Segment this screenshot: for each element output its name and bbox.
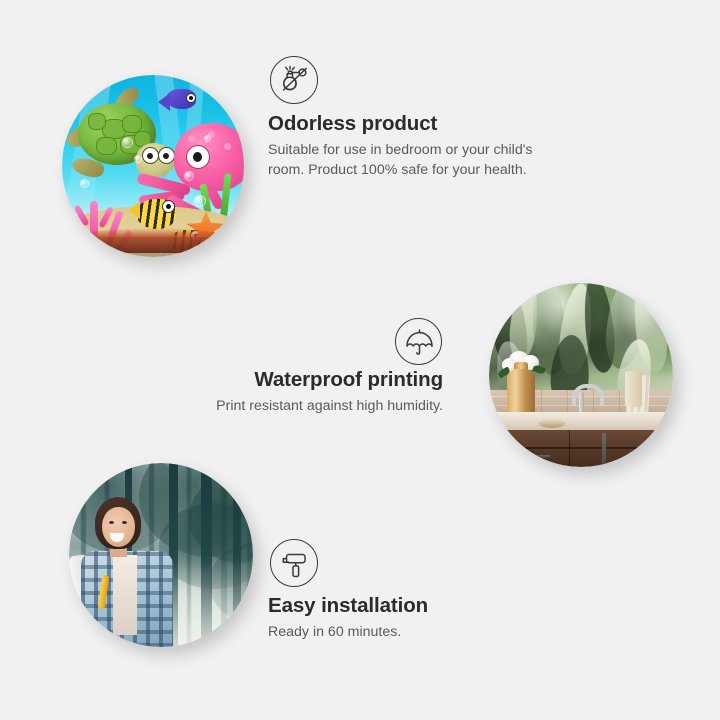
umbrella-icon — [395, 318, 442, 365]
soap-dispenser — [625, 371, 642, 407]
photo-bottom-shade — [62, 237, 244, 257]
underwater-cartoon-mural-photo — [62, 75, 244, 257]
woman-inner-shirt — [113, 555, 137, 635]
faucet-spout — [572, 384, 604, 406]
fish-tail — [128, 201, 140, 219]
fish-eye — [162, 200, 175, 213]
blue-fish-eye — [186, 93, 196, 103]
woman-with-paint-roller-forest-mural-photo — [69, 463, 253, 647]
feature-description-waterproof: Print resistant against high humidity. — [216, 396, 443, 416]
feature-title-odorless: Odorless product — [268, 112, 437, 136]
turtle-eye — [142, 147, 159, 164]
octopus-eye — [186, 145, 210, 169]
soap-dish — [539, 419, 565, 428]
feature-title-installation: Easy installation — [268, 594, 428, 618]
feature-description-line: Ready in 60 minutes. — [268, 622, 401, 642]
bubble — [204, 135, 211, 142]
wood-vanity-cabinet — [489, 430, 673, 467]
feature-description-installation: Ready in 60 minutes. — [268, 622, 401, 642]
bubble — [194, 195, 206, 207]
turtle-eye — [158, 147, 175, 164]
no-odor-spray-bottle-icon — [270, 56, 318, 104]
feature-description-odorless: Suitable for use in bedroom or your chil… — [268, 140, 598, 180]
stone-countertop — [489, 412, 673, 432]
feature-description-line: room. Product 100% safe for your health. — [268, 160, 598, 180]
bubble — [134, 155, 142, 163]
bubble — [122, 137, 133, 148]
bathroom-vanity-tropical-wallpaper-photo — [489, 283, 673, 467]
bubble — [80, 179, 89, 188]
feature-highlights-page: Odorless product Suitable for use in bed… — [0, 0, 720, 720]
gold-vase — [507, 369, 535, 417]
feature-description-line: Print resistant against high humidity. — [216, 396, 443, 416]
feature-title-waterproof: Waterproof printing — [254, 368, 443, 392]
blue-fish-tail — [158, 93, 170, 111]
paint-roller-icon — [270, 539, 318, 587]
feature-description-line: Suitable for use in bedroom or your chil… — [268, 140, 598, 160]
bubble — [184, 171, 194, 181]
